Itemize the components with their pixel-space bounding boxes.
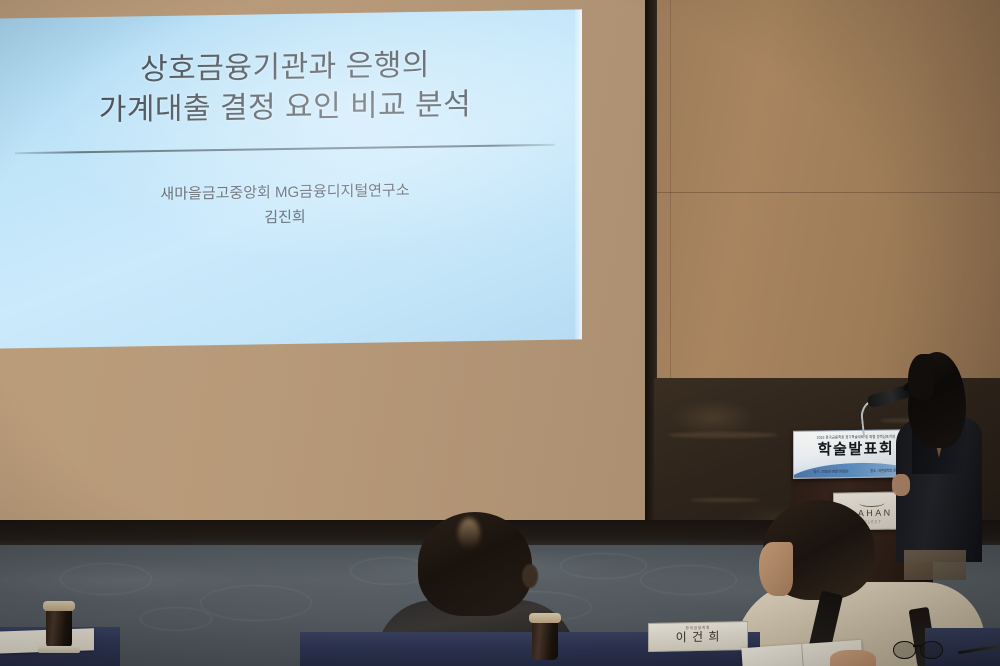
screen-right-edge <box>645 0 654 550</box>
slide-presenter-name: 김진희 <box>264 206 305 228</box>
cup-lid-left <box>43 601 75 611</box>
audience-front-ear <box>522 564 538 588</box>
nameplate: 한국금융학회 이 건 희 <box>648 621 748 652</box>
eyeglasses-left-lens <box>893 641 916 659</box>
presenter-hair-front <box>908 354 934 400</box>
audience-right-face <box>759 542 793 596</box>
audience-right-hand <box>830 650 876 666</box>
eyeglasses-right-lens <box>920 641 943 659</box>
eyeglasses-icon <box>893 641 943 658</box>
audience-front-hair-highlight <box>458 518 480 550</box>
cup-lid-center <box>529 613 561 623</box>
banner-footer-date: 일시 : 2025년 00월 00일(0) <box>813 469 848 475</box>
slide-affiliation: 새마을금고중앙회 MG금융디지털연구소 <box>160 178 409 207</box>
projected-slide: 상호금융기관과 은행의 가계대출 결정 요인 비교 분석 새마을금고중앙회 MG… <box>0 9 582 348</box>
slide-edge-highlight <box>575 9 582 339</box>
slide-title: 상호금융기관과 은행의 가계대출 결정 요인 비교 분석 <box>0 43 582 133</box>
back-wall-upper-panel <box>650 0 1000 380</box>
slide-divider-rule <box>15 144 555 154</box>
cup-saucer-left <box>38 646 80 653</box>
slide-title-line-1: 상호금융기관과 은행의 <box>140 49 430 87</box>
slide-title-line-2: 가계대출 결정 요인 비교 분석 <box>0 84 582 134</box>
presenter-hand <box>892 474 910 496</box>
eyeglasses-bridge <box>913 645 922 647</box>
coffee-cup-center <box>532 618 558 660</box>
coffee-cup-left <box>46 606 72 648</box>
nameplate-org-label: 한국금융학회 <box>649 623 747 631</box>
presentation-photo-scene: 상호금융기관과 은행의 가계대출 결정 요인 비교 분석 새마을금고중앙회 MG… <box>0 0 1000 666</box>
